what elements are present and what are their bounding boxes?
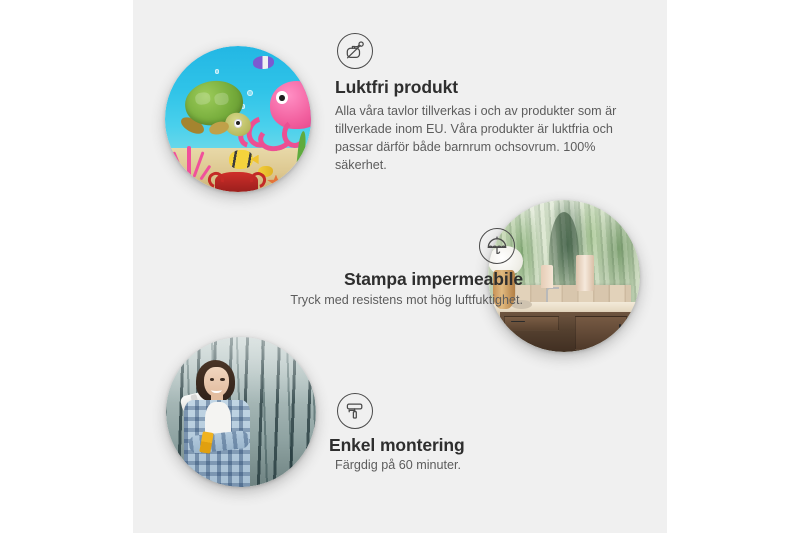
paint-roller-icon: [337, 393, 373, 429]
octopus-eye: [276, 91, 288, 104]
feature-description: Tryck med resistens mot hög luftfuktighe…: [203, 292, 523, 310]
content-panel: Luktfri produkt Alla våra tavlor tillver…: [133, 0, 667, 533]
underwater-scene-art: [165, 46, 311, 192]
vanity-drawer: [504, 316, 559, 331]
decor-bottle: [576, 255, 594, 291]
no-odour-spray-bottle-icon: [337, 33, 373, 69]
turtle-eye: [234, 119, 243, 128]
woman-eye: [210, 378, 215, 381]
feature-odour-free: Luktfri produkt Alla våra tavlor tillver…: [335, 33, 625, 175]
feature-easy-mounting: Enkel montering Färgdig på 60 minuter.: [329, 393, 599, 475]
woman-eye: [220, 378, 225, 381]
crab: [215, 172, 259, 192]
woman-scene-art: [166, 337, 316, 487]
product-feature-infographic: Luktfri produkt Alla våra tavlor tillver…: [0, 0, 800, 533]
woman-smile: [211, 387, 222, 393]
wooden-vanity: [500, 312, 631, 352]
soap-dispenser: [541, 265, 553, 288]
feature-title: Luktfri produkt: [335, 77, 625, 98]
door-handle: [619, 324, 621, 338]
underwater-kids-mural-photo: [165, 46, 311, 192]
umbrella-icon: [479, 228, 515, 264]
feature-description: Färgdig på 60 minuter.: [335, 457, 599, 475]
drawer-handle: [511, 321, 525, 322]
feature-title: Stampa impermeabile: [203, 269, 523, 290]
bubble-icon: [215, 69, 219, 73]
feature-description: Alla våra tavlor tillverkas i och av pro…: [335, 103, 625, 175]
feature-title: Enkel montering: [329, 435, 599, 456]
feature-waterproof-print: Stampa impermeabile Tryck med resistens …: [203, 228, 523, 310]
pink-coral: [168, 137, 212, 181]
woman-face: [204, 367, 230, 397]
yellow-striped-fish: [229, 150, 252, 169]
bubble-icon: [247, 90, 253, 96]
vanity-door: [575, 316, 627, 349]
woman-with-paint-roller-photo: [166, 337, 316, 487]
